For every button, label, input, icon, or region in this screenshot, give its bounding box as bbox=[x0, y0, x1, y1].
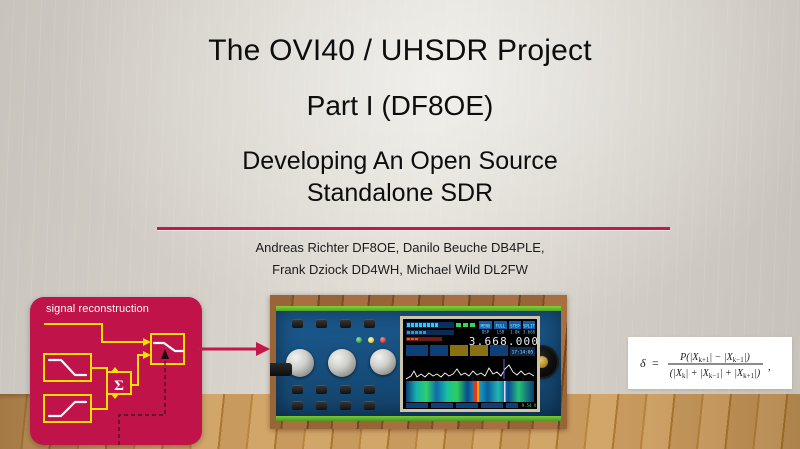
pcb-button bbox=[340, 401, 351, 410]
pcb-button bbox=[292, 401, 303, 410]
presentation-slide: The OVI40 / UHSDR Project Part I (DF8OE)… bbox=[0, 0, 800, 449]
slide-subtitle: Developing An Open Source Standalone SDR bbox=[0, 120, 800, 209]
lcd-clock: 17:14:05 bbox=[512, 350, 534, 356]
title-block: The OVI40 / UHSDR Project Part I (DF8OE)… bbox=[0, 0, 800, 209]
svg-text:9.54 V: 9.54 V bbox=[522, 403, 537, 408]
formula-equals: = bbox=[652, 356, 659, 370]
slide-subtitle-line1: Developing An Open Source bbox=[242, 147, 558, 175]
sigma-symbol: Σ bbox=[114, 378, 124, 394]
svg-text:SPLIT: SPLIT bbox=[523, 324, 536, 329]
rotary-knob bbox=[370, 349, 396, 375]
authors-block: Andreas Richter DF8OE, Danilo Beuche DB4… bbox=[0, 237, 800, 282]
sdr-pcb: MENU FULL STEP SPLIT DSP LSB 1.0k 3.668 … bbox=[276, 311, 561, 416]
svg-text:3.668: 3.668 bbox=[523, 330, 536, 335]
rising-edge-box bbox=[44, 395, 91, 422]
delta-formula-box: δ = P(|Xk+1| − |Xk−1|) (|Xk| + |Xk−1| + … bbox=[628, 337, 792, 389]
pcb-button bbox=[340, 319, 351, 328]
signal-reconstruction-diagram: signal reconstruction bbox=[30, 297, 202, 445]
lcd-soft-buttons: 9.54 V bbox=[406, 403, 537, 408]
pcb-button bbox=[316, 401, 327, 410]
title-divider-rule bbox=[157, 227, 670, 230]
svg-text:MENU: MENU bbox=[481, 324, 491, 329]
sdr-device-photo: MENU FULL STEP SPLIT DSP LSB 1.0k 3.668 … bbox=[270, 295, 567, 429]
reconstructed-signal-box bbox=[151, 334, 184, 364]
authors-line-2: Frank Dziock DD4WH, Michael Wild DL2FW bbox=[0, 259, 800, 281]
pcb-button bbox=[364, 385, 375, 394]
svg-text:STEP: STEP bbox=[510, 324, 520, 329]
pcb-button bbox=[316, 319, 327, 328]
pcb-button bbox=[292, 319, 303, 328]
svg-text:LSB: LSB bbox=[497, 330, 505, 335]
antenna-cable bbox=[270, 363, 292, 376]
pcb-button bbox=[364, 319, 375, 328]
authors-line-1: Andreas Richter DF8OE, Danilo Beuche DB4… bbox=[0, 237, 800, 259]
formula-numerator: P(|Xk+1| − |Xk−1|) bbox=[679, 352, 750, 364]
status-led-green bbox=[356, 337, 362, 343]
svg-text:DSP: DSP bbox=[482, 330, 490, 335]
formula-trailing-comma: , bbox=[768, 361, 771, 373]
falling-edge-box bbox=[44, 354, 91, 381]
status-led-yellow bbox=[368, 337, 374, 343]
lcd-screen-content: MENU FULL STEP SPLIT DSP LSB 1.0k 3.668 … bbox=[403, 319, 537, 409]
rotary-knob bbox=[328, 349, 356, 377]
delta-formula-graphic: δ = P(|Xk+1| − |Xk−1|) (|Xk| + |Xk−1| + … bbox=[635, 343, 785, 383]
diagram-graphic: Σ bbox=[30, 297, 202, 445]
pcb-button bbox=[292, 385, 303, 394]
flow-arrow-icon bbox=[198, 340, 272, 358]
svg-text:1.0k: 1.0k bbox=[510, 330, 520, 335]
svg-text:FULL: FULL bbox=[496, 324, 506, 329]
slide-subtitle-line2: Standalone SDR bbox=[0, 178, 800, 210]
waterfall-display bbox=[406, 381, 534, 402]
pcb-button bbox=[340, 385, 351, 394]
slide-title-part: Part I (DF8OE) bbox=[0, 66, 800, 120]
pcb-button bbox=[364, 401, 375, 410]
sdr-lcd-display: MENU FULL STEP SPLIT DSP LSB 1.0k 3.668 … bbox=[400, 316, 540, 412]
status-led-red bbox=[380, 337, 386, 343]
formula-delta: δ bbox=[640, 356, 646, 370]
pcb-button bbox=[316, 385, 327, 394]
formula-denominator: (|Xk| + |Xk−1| + |Xk+1|) bbox=[670, 368, 761, 380]
slide-title-main: The OVI40 / UHSDR Project bbox=[0, 0, 800, 66]
